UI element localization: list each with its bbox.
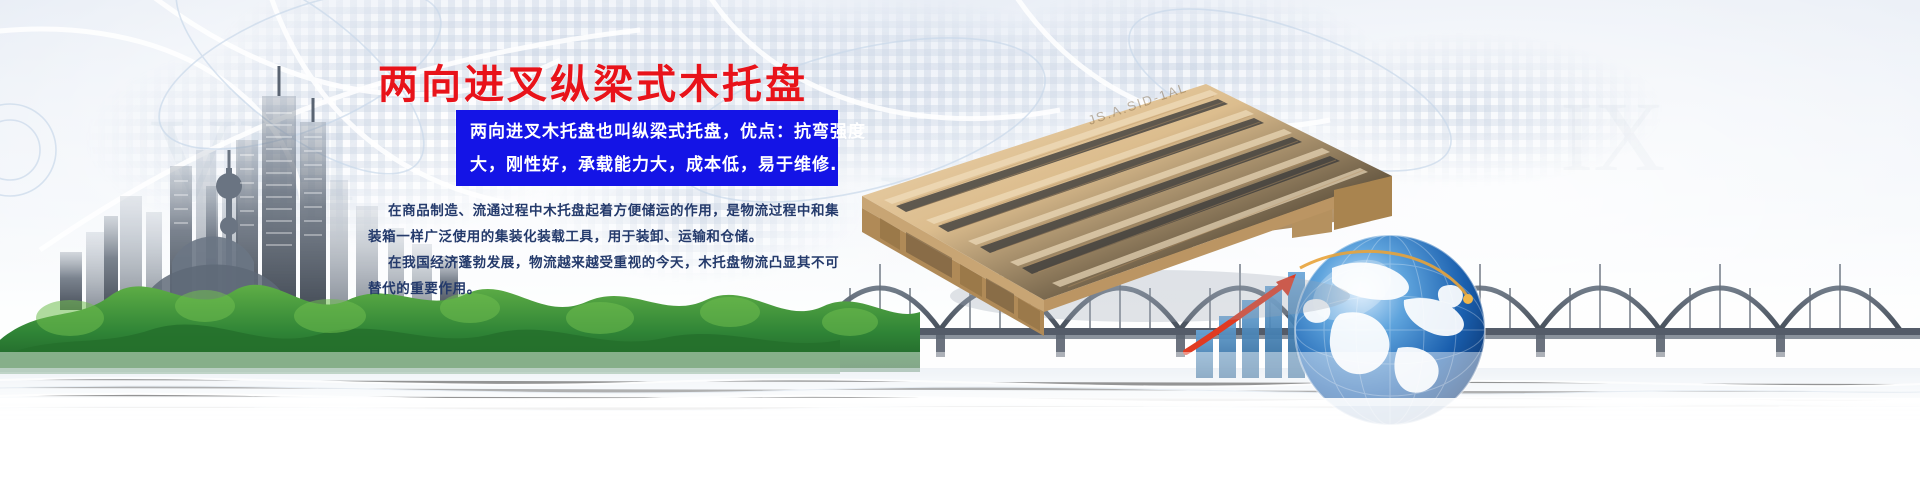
body-paragraph-2: 在我国经济蓬勃发展，物流越来越受重视的今天，木托盘物流凸显其不可替代的重要作用。 xyxy=(368,250,848,302)
banner-body-copy: 在商品制造、流通过程中木托盘起着方便储运的作用，是物流过程中和集装箱一样广泛使用… xyxy=(368,198,848,302)
banner-artwork: VIII VII IX xyxy=(0,0,1920,500)
body-paragraph-1: 在商品制造、流通过程中木托盘起着方便储运的作用，是物流过程中和集装箱一样广泛使用… xyxy=(368,198,848,250)
svg-text:IX: IX xyxy=(1560,81,1666,192)
highlight-line-2: 大，刚性好，承载能力大，成本低，易于维修. xyxy=(470,149,828,182)
banner-title: 两向进叉纵梁式木托盘 xyxy=(378,52,808,110)
highlight-line-1: 两向进叉木托盘也叫纵梁式托盘，优点：抗弯强度 xyxy=(470,116,828,149)
product-banner: VIII VII IX xyxy=(0,0,1920,500)
highlight-callout-box: 两向进叉木托盘也叫纵梁式托盘，优点：抗弯强度 大，刚性好，承载能力大，成本低，易… xyxy=(456,110,838,186)
